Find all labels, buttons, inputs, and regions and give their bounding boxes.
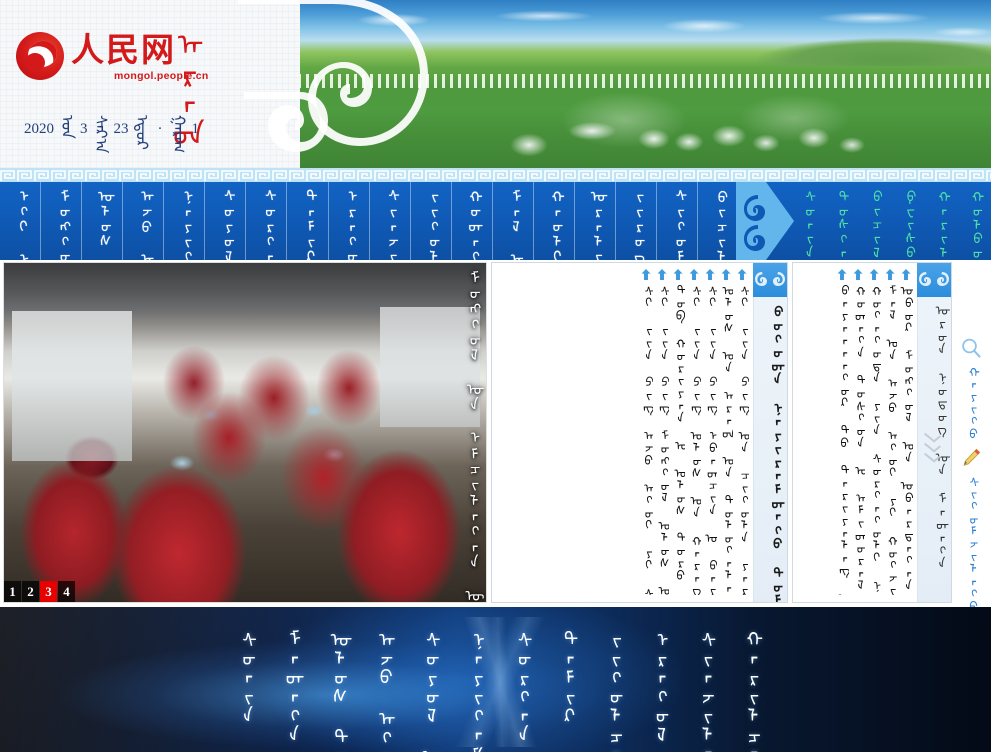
bottom-banner-item-3[interactable]: ᠠᠵᠤ ᠠᠬᠤᠢ (371, 629, 391, 752)
news-item-title: ᠲᠥᠪ ᠬᠣᠷᠢᠶᠠᠨ ᠤ ᠤᠯᠤᠰ ᠲᠥᠷᠥ ᠶᠢᠨ ᠲᠣᠪᠴᠢᠶ᠎ᠠ ᠬᠤᠷ… (671, 283, 685, 595)
bottom-banner-item-1[interactable]: ᠮᠡᠳᠡᠭᠡ ᠵᠠᠩᠭᠢ (279, 629, 299, 752)
nav-item-7[interactable]: ᠲᠠᠮᠢᠷ (287, 182, 328, 260)
news-item-title: ᠥᠪᠥᠷ ᠮᠣᠩᠭᠣᠯ ᠤᠨ ᠥᠪᠡᠷᠲᠡᠭᠡᠨ ᠵᠠᠰᠠᠬᠤ ᠣᠷᠣᠨ ᠳᠤ…… (899, 283, 913, 595)
search-icon (960, 337, 982, 359)
news-item-title: ᠬᠥᠳᠡᠭᠡ ᠲᠣᠰᠬᠣᠨ ᠤ ᠠᠮᠢᠳᠤᠷᠠᠯ ᠰᠠᠶᠢᠵᠢᠷᠠᠪᠠ…… (851, 283, 865, 595)
news-list-national: ᠰᠢ ᠵᠢᠨ ᠫᠢᠩ ᠤᠨ ᠴᠢᠬᠤᠯᠠ ᠶᠠᠷᠢᠶ᠎ᠠ ᠶᠢ ᠭᠦᠨᠵᠡᠭᠡᠢ… (492, 263, 753, 602)
dateline-year-unit: ᠣᠨ (59, 115, 75, 143)
bottom-banner-item-10[interactable]: ᠰᠢᠨᠵᠢᠯᠡᠬᠦ ᠤᠬᠠᠭᠠᠨ (692, 629, 712, 752)
nav-item-label: ᠪᠢᠴᠢᠯᠭᠡ (710, 188, 726, 260)
bottom-banner-item-9[interactable]: ᠡᠷᠡᠭᠦᠯ (646, 629, 666, 743)
news-item-title: ᠮᠠᠯ ᠤᠨ ᠠᠵᠤ ᠠᠬᠤᠢ ᠶᠢ ᠬᠥᠭᠵᠢᠭᠦᠯᠬᠦ ᠰᠢᠨ᠎ᠡ ᠠᠷᠭ᠎… (883, 283, 897, 595)
pager-page-3[interactable]: 3 (40, 581, 57, 602)
nav-item-9[interactable]: ᠰᠢᠨᠵᠢᠯᠡᠬᠦ ᠤᠬᠠᠭᠠᠨ (370, 182, 411, 260)
arrow-up-bullet-icon (854, 269, 863, 280)
news-item[interactable]: ᠰᠢ ᠵᠢᠨ ᠫᠢᠩ ᠮᠣᠩᠭᠣᠯ ᠤᠯᠤᠰ ᠤᠨ ᠶᠡᠷᠦᠩᠬᠡᠶᠢᠯᠡᠭᠴᠢ… (655, 269, 669, 599)
news-item-title: ᠰᠢ ᠵᠢᠨ ᠫᠢᠩ ᠤᠯᠤᠰ ᠤᠨ ᠬᠡᠷᠡᠭ ᠮᠡᠳᠡᠬᠦ ᠬᠤᠷᠠᠯ ᠤᠨ… (687, 283, 701, 595)
news-item-title: ᠰᠢ ᠵᠢᠨ ᠫᠢᠩ ᠮᠣᠩᠭᠣᠯ ᠤᠯᠤᠰ ᠤᠨ ᠶᠡᠷᠦᠩᠬᠡᠶᠢᠯᠡᠭᠴᠢ… (655, 283, 669, 595)
nav-item-6[interactable]: ᠰᠤᠷᠭᠠᠨ ᠬᠦᠮᠦᠵᠢᠯ (246, 182, 287, 260)
nav-item-label: ᠤᠷᠠᠯᠢᠭ (587, 188, 603, 260)
news-block-national-header: ᠪᠦᠭᠦᠳᠡ ᠨᠠᠶᠢᠷᠠᠮᠳᠠᠬᠤ ᠳᠤᠮᠳᠠᠳᠤ ᠠᠷᠠᠳ ᠤᠯᠤᠰ ᠤᠨ … (753, 263, 787, 602)
site-logo[interactable]: 人民网 mongol.people.cn ᠠᠷᠠᠳ ᠤᠨ ᠰᠦᠯᠵᠢᠶ᠎ᠡ (16, 30, 286, 92)
nav-item-label: ᠰᠤᠷᠭᠠᠨ ᠬᠦᠮᠦᠵᠢᠯ (259, 188, 275, 260)
nav-item-15[interactable]: ᠵᠢᠷᠤᠭ ᠰᠡᠭᠦᠳᠡᠷ (616, 182, 657, 260)
nav-item-14[interactable]: ᠤᠷᠠᠯᠢᠭ (575, 182, 616, 260)
nav-item-label: ᠰᠢᠭᠦᠮᠵᠢᠯᠡᠯ (669, 188, 685, 260)
greek-key-border (0, 168, 991, 182)
news-item[interactable]: ᠬᠥᠳᠡᠭᠡ ᠲᠣᠰᠬᠣᠨ ᠤ ᠠᠮᠢᠳᠤᠷᠠᠯ ᠰᠠᠶᠢᠵᠢᠷᠠᠪᠠ…… (851, 269, 865, 599)
news-item[interactable]: ᠮᠠᠯ ᠤᠨ ᠠᠵᠤ ᠠᠬᠤᠢ ᠶᠢ ᠬᠥᠭᠵᠢᠭᠦᠯᠬᠦ ᠰᠢᠨ᠎ᠡ ᠠᠷᠭ᠎… (883, 269, 897, 599)
search-button[interactable]: ᠬᠠᠶᠢᠬᠤ (953, 337, 989, 439)
search-button-label: ᠬᠠᠶᠢᠬᠤ (964, 364, 978, 439)
bottom-banner: ᠰᠤᠨᠢᠨᠮᠡᠳᠡᠭᠡ ᠵᠠᠩᠭᠢᠤᠯᠤᠰ ᠲᠥᠷᠥᠠᠵᠤ ᠠᠬᠤᠢᠰᠤᠶᠤᠯ … (0, 607, 991, 752)
nav-item-17[interactable]: ᠪᠢᠴᠢᠯᠭᠡ (698, 182, 738, 260)
nav-item-label: ᠮᠠᠯ ᠠᠵᠤ ᠠᠬᠤᠢ (505, 188, 521, 260)
pager-page-2[interactable]: 2 (22, 581, 39, 602)
write-comment-button[interactable]: ᠰᠢᠭᠦᠮᠵᠢᠯᠡᠬᠦ (953, 447, 989, 612)
nav-item-label: ᠤᠯᠤᠰ ᠲᠦᠷᠦ (94, 188, 110, 260)
news-item[interactable]: ᠰᠢ ᠵᠢᠨ ᠫᠢᠩ ᠠᠵᠤ ᠠᠬᠤᠢ ᠶᠢ ᠰᠡᠷᠭᠦᠭᠡᠬᠦ ᠠᠵᠢᠯ ᠢ … (639, 269, 653, 599)
bottom-banner-item-4[interactable]: ᠰᠤᠶᠤᠯ ᠤᠷᠠᠯᠢᠭ (417, 629, 437, 752)
nav-item-label: ᠰᠢᠨᠵᠢᠯᠡᠬᠦ ᠤᠬᠠᠭᠠᠨ (382, 188, 398, 260)
arrow-up-bullet-icon (838, 269, 847, 280)
arrow-up-bullet-icon (674, 269, 683, 280)
news-item-title: ᠰᠢ ᠵᠢᠨ ᠫᠢᠩ ᠡᠪᠡᠳᠴᠢᠨ ᠦ ᠪᠠᠶᠢᠳᠠᠯ ᠢ ᠰᠡᠷᠭᠡᠶᠢᠯᠡ… (703, 283, 717, 595)
nav-cloud-separator (736, 182, 794, 260)
main-navigation: ᠡᠬᠢ ᠨᠢᠭᠤᠷᠮᠤᠩᠭᠤᠯ ᠣᠷᠣᠨᠤᠯᠤᠰ ᠲᠦᠷᠦᠠᠵᠤ ᠠᠬᠤᠢᠨᠡᠶ… (0, 182, 991, 260)
arrow-up-bullet-icon (738, 269, 747, 280)
dateline-month: 3 (80, 121, 88, 138)
nav-item-label: ᠬᠥᠳᠡᠭᠡ ᠠᠵᠤ (464, 188, 480, 260)
news-block-national-title: ᠪᠦᠭᠦᠳᠡ ᠨᠠᠶᠢᠷᠠᠮᠳᠠᠬᠤ ᠳᠤᠮᠳᠠᠳᠤ ᠠᠷᠠᠳ ᠤᠯᠤᠰ ᠤᠨ … (765, 303, 783, 583)
nav-item-0[interactable]: ᠡᠬᠢ ᠨᠢᠭᠤᠷ (0, 182, 41, 260)
nav-extra-item-2[interactable]: ᠪᠢᠴᠢᠯ ᠪᠢᠴᠢᠭ (866, 189, 881, 260)
dateline-day-unit: ᠡᠳᠦᠷ (134, 115, 150, 143)
more-news-chevron-icon[interactable] (925, 431, 941, 460)
brand-name-mn: ᠠᠷᠠᠳ ᠤᠨ ᠰᠦᠯᠵᠢᠶ᠎ᠡ (166, 28, 256, 92)
main-content: ᠮᠣᠩᠭᠣᠯ ᠤᠨ ᠡᠮᠴᠢᠯᠡᠭᠡᠨ ᠦ ᠪᠠᠭ ᠤᠨ ᠭᠡᠰᠢᠭᠦᠳ ᠡᠬᠡ… (0, 260, 991, 605)
nav-secondary-list: ᠰᠤᠨᠢᠨ ᠮᠡᠳᠡᠭᠡᠲᠤᠰᠬᠠᠢ ᠰᠡᠳᠦᠪᠪᠢᠴᠢᠯ ᠪᠢᠴᠢᠭᠹᠸᠢᠰᠪ… (790, 182, 991, 260)
arrow-up-bullet-icon (870, 269, 879, 280)
bottom-banner-item-5[interactable]: ᠨᠡᠶᠢᠭᠡᠮ (463, 629, 483, 752)
page-root: 人民网 mongol.people.cn ᠠᠷᠠᠳ ᠤᠨ ᠰᠦᠯᠵᠢᠶ᠎ᠡ 20… (0, 0, 991, 752)
nav-item-2[interactable]: ᠤᠯᠤᠰ ᠲᠦᠷᠦ (82, 182, 123, 260)
bottom-banner-item-2[interactable]: ᠤᠯᠤᠰ ᠲᠥᠷᠥ (325, 629, 345, 752)
nav-item-8[interactable]: ᠡᠷᠡᠭᠦᠯ ᠮᠡᠨᠳᠦ (329, 182, 370, 260)
arrow-up-bullet-icon (658, 269, 667, 280)
nav-item-5[interactable]: ᠰᠤᠶᠤᠯ (205, 182, 246, 260)
arrow-up-bullet-icon (722, 269, 731, 280)
nav-extra-item-4[interactable]: ᠬᠠᠷᠢᠯᠴᠠᠬᠤ (933, 189, 948, 260)
pager-page-1[interactable]: 1 (4, 581, 21, 602)
news-item[interactable]: ᠰᠢ ᠵᠢᠨ ᠫᠢᠩ ᠡᠪᠡᠳᠴᠢᠨ ᠦ ᠪᠠᠶᠢᠳᠠᠯ ᠢ ᠰᠡᠷᠭᠡᠶᠢᠯᠡ… (703, 269, 717, 599)
news-item[interactable]: ᠥᠪᠥᠷ ᠮᠣᠩᠭᠣᠯ ᠤᠨ ᠥᠪᠡᠷᠲᠡᠭᠡᠨ ᠵᠠᠰᠠᠬᠤ ᠣᠷᠣᠨ ᠳᠤ…… (899, 269, 913, 599)
pager-page-4[interactable]: 4 (58, 581, 75, 602)
news-item[interactable]: ᠲᠥᠪ ᠬᠣᠷᠢᠶᠠᠨ ᠤ ᠤᠯᠤᠰ ᠲᠥᠷᠥ ᠶᠢᠨ ᠲᠣᠪᠴᠢᠶ᠎ᠠ ᠬᠤᠷ… (671, 269, 685, 599)
nav-item-12[interactable]: ᠮᠠᠯ ᠠᠵᠤ ᠠᠬᠤᠢ (493, 182, 534, 260)
news-block-local-header: ᠣᠷᠣᠨ ᠨᠤᠲᠤᠭ ᠤᠨ ᠮᠡᠳᠡᠭᠡ (917, 263, 951, 602)
news-item[interactable]: ᠰᠢ ᠵᠢᠨ ᠫᠢᠩ ᠤᠨ ᠴᠢᠬᠤᠯᠠ ᠶᠠᠷᠢᠶ᠎ᠠ ᠶᠢ ᠭᠦᠨᠵᠡᠭᠡᠢ… (735, 269, 749, 599)
news-item-title: ᠰᠢ ᠵᠢᠨ ᠫᠢᠩ ᠤᠨ ᠴᠢᠬᠤᠯᠠ ᠶᠠᠷᠢᠶ᠎ᠠ ᠶᠢ ᠭᠦᠨᠵᠡᠭᠡᠢ… (735, 283, 749, 595)
news-item-title: ᠤᠯᠤᠰ ᠤᠨ ᠠᠷᠠᠳ ᠤᠨ ᠲᠥᠯᠥᠭᠡᠯᠡᠭᠴᠢᠳ ᠦᠨ ᠶᠡᠬᠡ ᠬᠤᠷ… (719, 283, 733, 595)
news-item[interactable]: ᠤᠯᠤᠰ ᠤᠨ ᠠᠷᠠᠳ ᠤᠨ ᠲᠥᠯᠥᠭᠡᠯᠡᠭᠴᠢᠳ ᠦᠨ ᠶᠡᠬᠡ ᠬᠤᠷ… (719, 269, 733, 599)
dateline-separator: · (155, 121, 166, 138)
news-item[interactable]: ᠰᠢ ᠵᠢᠨ ᠫᠢᠩ ᠤᠯᠤᠰ ᠤᠨ ᠬᠡᠷᠡᠭ ᠮᠡᠳᠡᠬᠦ ᠬᠤᠷᠠᠯ ᠤᠨ… (687, 269, 701, 599)
news-item[interactable]: ᠬᠥᠬᠡᠬᠣᠲᠠ ᠶᠢᠨ ᠰᠤᠷᠭᠠᠭᠤᠯᠢ ᠨᠤᠭᠤᠳ ᠬᠢ�màᠠ ᠰᠡᠷᠭ… (867, 269, 881, 599)
news-block-national: ᠰᠢ ᠵᠢᠨ ᠫᠢᠩ ᠤᠨ ᠴᠢᠬᠤᠯᠠ ᠶᠠᠷᠢᠶ᠎ᠠ ᠶᠢ ᠭᠦᠨᠵᠡᠭᠡᠢ… (491, 262, 788, 603)
nav-item-16[interactable]: ᠰᠢᠭᠦᠮᠵᠢᠯᠡᠯ (657, 182, 698, 260)
nav-item-label: ᠵᠢᠷᠤᠭ ᠰᠡᠭᠦᠳᠡᠷ (628, 188, 644, 260)
nav-primary-list: ᠡᠬᠢ ᠨᠢᠭᠤᠷᠮᠤᠩᠭᠤᠯ ᠣᠷᠣᠨᠤᠯᠤᠰ ᠲᠦᠷᠦᠠᠵᠤ ᠠᠬᠤᠢᠨᠡᠶ… (0, 182, 738, 260)
dateline-day: 23 (114, 121, 129, 138)
dateline-weekday-unit: ᠭᠠᠷᠠᠭ (171, 115, 187, 143)
bottom-banner-item-0[interactable]: ᠰᠤᠨᠢᠨ (233, 629, 253, 724)
people-logo-icon (16, 32, 64, 80)
news-list-local: ᠥᠪᠥᠷ ᠮᠣᠩᠭᠣᠯ ᠤᠨ ᠥᠪᠡᠷᠲᠡᠭᠡᠨ ᠵᠠᠰᠠᠬᠤ ᠣᠷᠣᠨ ᠳᠤ…… (793, 263, 917, 602)
nav-item-label: ᠮᠤᠩᠭᠤᠯ ᠣᠷᠣᠨ (53, 188, 69, 260)
pencil-icon (960, 447, 982, 469)
nav-item-label: ᠡᠷᠡᠭᠦᠯ ᠮᠡᠨᠳᠦ (341, 188, 357, 260)
nav-extra-item-0[interactable]: ᠰᠤᠨᠢᠨ ᠮᠡᠳᠡᠭᠡ (799, 189, 814, 260)
nav-item-1[interactable]: ᠮᠤᠩᠭᠤᠯ ᠣᠷᠣᠨ (41, 182, 82, 260)
write-comment-button-label: ᠰᠢᠭᠦᠮᠵᠢᠯᠡᠬᠦ (964, 474, 978, 612)
feature-photo-image (4, 263, 486, 602)
site-header: 人民网 mongol.people.cn ᠠᠷᠠᠳ ᠤᠨ ᠰᠦᠯᠵᠢᠶ᠎ᠡ 20… (0, 0, 991, 168)
dateline-weekday: 1 (192, 121, 200, 138)
news-block-local: ᠥᠪᠥᠷ ᠮᠣᠩᠭᠣᠯ ᠤᠨ ᠥᠪᠡᠷᠲᠡᠭᠡᠨ ᠵᠠᠰᠠᠬᠤ ᠣᠷᠣᠨ ᠳᠤ…… (792, 262, 952, 603)
cloud-cap-icon (753, 263, 787, 297)
bottom-banner-item-7[interactable]: ᠲᠠᠮᠢᠷ (554, 629, 574, 724)
nav-item-4[interactable]: ᠨᠡᠶᠢᠭᠡᠮ (164, 182, 205, 260)
nav-extra-item-1[interactable]: ᠲᠤᠰᠬᠠᠢ ᠰᠡᠳᠦᠪ (833, 189, 848, 260)
bottom-banner-item-11[interactable]: ᠬᠠᠷᠢᠯᠴᠠᠬᠤ ᠠᠷᠭ᠎ᠠ (738, 629, 758, 752)
arrow-up-bullet-icon (690, 269, 699, 280)
arrow-up-bullet-icon (706, 269, 715, 280)
nav-item-label: ᠵᠢᠭᠤᠯᠴᠢᠯᠠᠯ (423, 188, 439, 260)
nav-item-label: ᠰᠤᠶᠤᠯ (217, 188, 233, 260)
nav-item-10[interactable]: ᠵᠢᠭᠤᠯᠴᠢᠯᠠᠯ (411, 182, 452, 260)
news-item-title: ᠪᠠᠶᠠᠨᠨᠠᠭᠤᠷ ᠲᠤ ᠲᠠᠷᠢᠶᠠᠯᠠᠩ ᠤᠨ ᠠᠵᠢᠯ ᠡᠬᠢᠯᠡᠪᠡ…… (835, 283, 849, 595)
nav-item-label: ᠨᠡᠶᠢᠭᠡᠮ (176, 188, 192, 260)
news-item-title: ᠬᠥᠬᠡᠬᠣᠲᠠ ᠶᠢᠨ ᠰᠤᠷᠭᠠᠭᠤᠯᠢ ᠨᠤᠭᠤᠳ ᠬᠢ�màᠠ ᠰᠡᠷᠭ… (867, 283, 881, 595)
nav-extra-item-5[interactable]: ᠬᠣᠯᠪᠣᠭᠠᠰᠤ (967, 189, 982, 260)
feature-photo-panel[interactable]: ᠮᠣᠩᠭᠣᠯ ᠤᠨ ᠡᠮᠴᠢᠯᠡᠭᠡᠨ ᠦ ᠪᠠᠭ ᠤᠨ ᠭᠡᠰᠢᠭᠦᠳ ᠡᠬᠡ… (3, 262, 487, 603)
nav-item-3[interactable]: ᠠᠵᠤ ᠠᠬᠤᠢ (123, 182, 164, 260)
feature-photo-caption: ᠮᠣᠩᠭᠣᠯ ᠤᠨ ᠡᠮᠴᠢᠯᠡᠭᠡᠨ ᠦ ᠪᠠᠭ ᠤᠨ ᠭᠡᠰᠢᠭᠦᠳ ᠡᠬᠡ… (460, 269, 482, 595)
nav-item-label: ᠲᠠᠮᠢᠷ (300, 188, 316, 260)
nav-item-label: ᠠᠵᠤ ᠠᠬᠤᠢ (135, 188, 151, 260)
news-item-title: ᠰᠢ ᠵᠢᠨ ᠫᠢᠩ ᠠᠵᠤ ᠠᠬᠤᠢ ᠶᠢ ᠰᠡᠷᠭᠦᠭᠡᠬᠦ ᠠᠵᠢᠯ ᠢ … (639, 283, 653, 595)
nav-item-13[interactable]: ᠬᠠᠤᠯᠢ ᠴᠠᠭᠠᠵᠠ (534, 182, 575, 260)
dateline-month-unit: ᠰᠠᠷ᠎ᠠ (93, 115, 109, 143)
bottom-banner-item-8[interactable]: ᠵᠢᠭᠤᠯᠴᠢᠯᠠᠯ (600, 629, 620, 752)
news-block-national-cap (753, 263, 787, 297)
news-item[interactable]: ᠪᠠᠶᠠᠨᠨᠠᠭᠤᠷ ᠲᠤ ᠲᠠᠷᠢᠶᠠᠯᠠᠩ ᠤᠨ ᠠᠵᠢᠯ ᠡᠬᠢᠯᠡᠪᠡ…… (835, 269, 849, 599)
bottom-banner-list: ᠰᠤᠨᠢᠨᠮᠡᠳᠡᠭᠡ ᠵᠠᠩᠭᠢᠤᠯᠤᠰ ᠲᠥᠷᠥᠠᠵᠤ ᠠᠬᠤᠢᠰᠤᠶᠤᠯ … (0, 607, 991, 752)
arrow-up-bullet-icon (642, 269, 651, 280)
cloud-cap-icon (917, 263, 951, 297)
arrow-up-bullet-icon (886, 269, 895, 280)
bottom-banner-item-6[interactable]: ᠰᠤᠷᠭᠠᠨ ᠬᠦᠮᠦᠵᠢᠯ (509, 629, 529, 752)
feature-photo-pager: 1234 (4, 581, 75, 602)
dateline: 2020 ᠣᠨ 3 ᠰᠠᠷ᠎ᠠ 23 ᠡᠳᠦᠷ · ᠭᠠᠷᠠᠭ 1 (24, 112, 199, 146)
greek-key-pattern-icon (0, 168, 991, 182)
nav-extra-item-3[interactable]: ᠹᠸᠢᠰᠪᠦᠦᠺ (900, 189, 915, 260)
arrow-up-bullet-icon (902, 269, 911, 280)
dateline-year: 2020 (24, 121, 54, 138)
nav-item-label: ᠬᠠᠤᠯᠢ ᠴᠠᠭᠠᠵᠠ (546, 188, 562, 260)
nav-item-label: ᠡᠬᠢ ᠨᠢᠭᠤᠷ (12, 188, 28, 260)
nav-item-11[interactable]: ᠬᠥᠳᠡᠭᠡ ᠠᠵᠤ (452, 182, 493, 260)
brand-name-cn: 人民网 (71, 30, 176, 70)
news-block-local-cap (917, 263, 951, 297)
utility-rail: ᠬᠠᠶᠢᠬᠤ ᠰᠢᠭᠦᠮᠵᠢᠯᠡᠬᠦ (953, 262, 989, 603)
cloud-arrow-icon (736, 182, 794, 260)
